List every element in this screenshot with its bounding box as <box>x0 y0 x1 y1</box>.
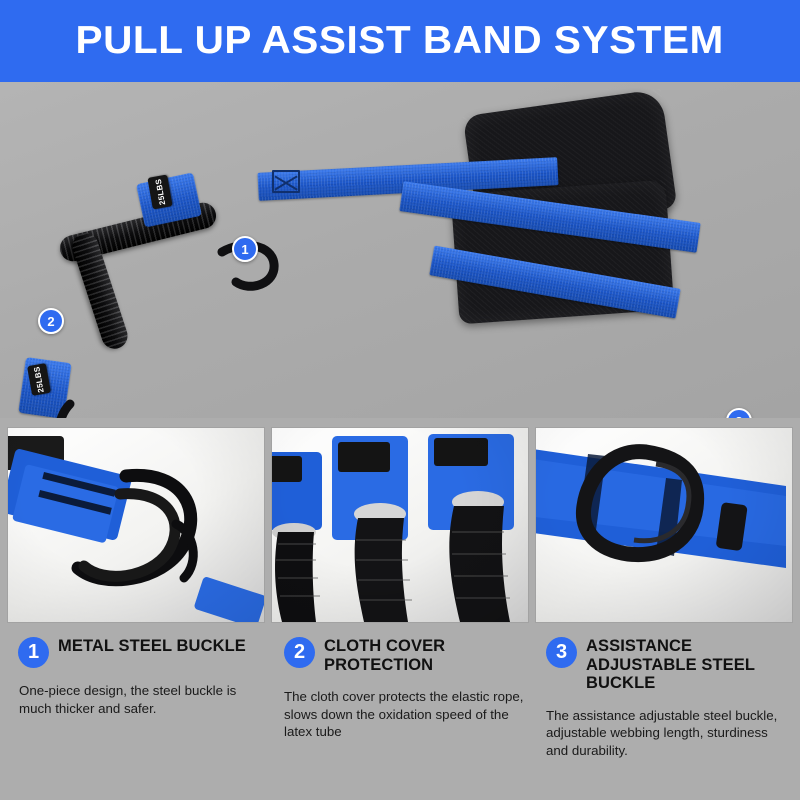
carabiner-hook-2-icon <box>52 400 112 418</box>
detail-photo-1 <box>8 428 264 622</box>
feature-list: 1 METAL STEEL BUCKLE One-piece design, t… <box>0 636 800 800</box>
callout-badge-3[interactable]: 3 <box>726 408 752 418</box>
feature-2-heading: 2 CLOTH COVER PROTECTION <box>284 636 526 674</box>
feature-3-heading: 3 ASSISTANCE ADJUSTABLE STEEL BUCKLE <box>546 636 790 693</box>
callout-badge-1[interactable]: 1 <box>232 236 258 262</box>
feature-3-number-badge: 3 <box>546 637 577 668</box>
feature-3-body: The assistance adjustable steel buckle, … <box>546 707 790 760</box>
page-title: PULL UP ASSIST BAND SYSTEM <box>76 21 724 61</box>
detail-photo-row <box>8 428 792 622</box>
feature-item-2: 2 CLOTH COVER PROTECTION The cloth cover… <box>272 636 534 800</box>
hero-product-image: 25LBS 25LBS HOXWC <box>0 82 800 418</box>
feature-1-number-badge: 1 <box>18 637 49 668</box>
feature-2-title: CLOTH COVER PROTECTION <box>324 636 526 674</box>
box-stitch-upper <box>272 170 300 193</box>
feature-item-3: 3 ASSISTANCE ADJUSTABLE STEEL BUCKLE The… <box>534 636 800 800</box>
callout-badge-2[interactable]: 2 <box>38 308 64 334</box>
feature-2-body: The cloth cover protects the elastic rop… <box>284 688 526 741</box>
detail-photo-2 <box>272 428 528 622</box>
feature-1-heading: 1 METAL STEEL BUCKLE <box>18 636 264 668</box>
feature-3-title: ASSISTANCE ADJUSTABLE STEEL BUCKLE <box>586 636 790 693</box>
detail-photo-3 <box>536 428 792 622</box>
feature-1-body: One-piece design, the steel buckle is mu… <box>19 682 264 717</box>
feature-1-title: METAL STEEL BUCKLE <box>58 636 246 656</box>
feature-2-number-badge: 2 <box>284 637 315 668</box>
header-banner: PULL UP ASSIST BAND SYSTEM <box>0 0 800 82</box>
feature-item-1: 1 METAL STEEL BUCKLE One-piece design, t… <box>0 636 272 800</box>
product-infographic: PULL UP ASSIST BAND SYSTEM <box>0 0 800 800</box>
